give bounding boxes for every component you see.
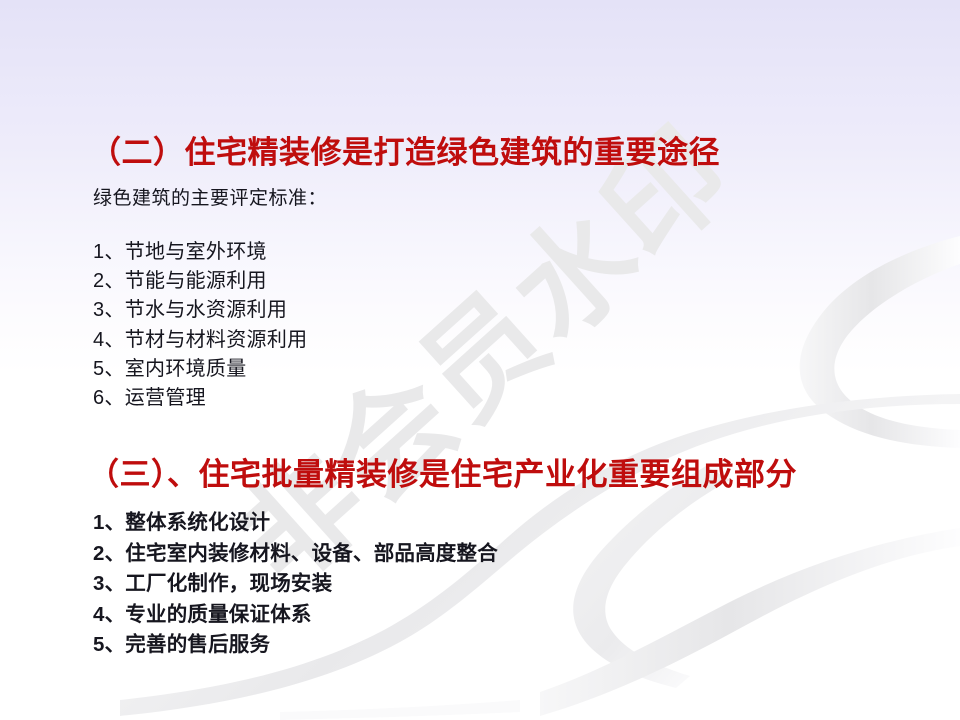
slide-content: （二）住宅精装修是打造绿色建筑的重要途径 绿色建筑的主要评定标准： 1、节地与室…	[0, 0, 960, 720]
list-item: 5、室内环境质量	[93, 355, 307, 384]
list-item: 1、节地与室外环境	[93, 238, 307, 267]
industrialization-points-list: 1、整体系统化设计 2、住宅室内装修材料、设备、部品高度整合 3、工厂化制作，现…	[93, 508, 498, 661]
list-item: 2、住宅室内装修材料、设备、部品高度整合	[93, 539, 498, 570]
list-item: 4、专业的质量保证体系	[93, 600, 498, 631]
list-item: 1、整体系统化设计	[93, 508, 498, 539]
list-item: 3、节水与水资源利用	[93, 296, 307, 325]
list-item: 4、节材与材料资源利用	[93, 326, 307, 355]
green-building-criteria-list: 1、节地与室外环境 2、节能与能源利用 3、节水与水资源利用 4、节材与材料资源…	[93, 238, 307, 413]
slide-canvas: 非会员水印 （二）住宅精装修是打造绿色建筑的重要途径 绿色建筑的主要评定标准： …	[0, 0, 960, 720]
section-two-heading: （二）住宅精装修是打造绿色建筑的重要途径	[90, 135, 720, 171]
list-item: 5、完善的售后服务	[93, 630, 498, 661]
list-item: 6、运营管理	[93, 384, 307, 413]
section-three-heading: （三）、住宅批量精装修是住宅产业化重要组成部分	[88, 457, 797, 493]
list-item: 2、节能与能源利用	[93, 267, 307, 296]
list-item: 3、工厂化制作，现场安装	[93, 569, 498, 600]
section-two-subtitle: 绿色建筑的主要评定标准：	[93, 187, 327, 212]
